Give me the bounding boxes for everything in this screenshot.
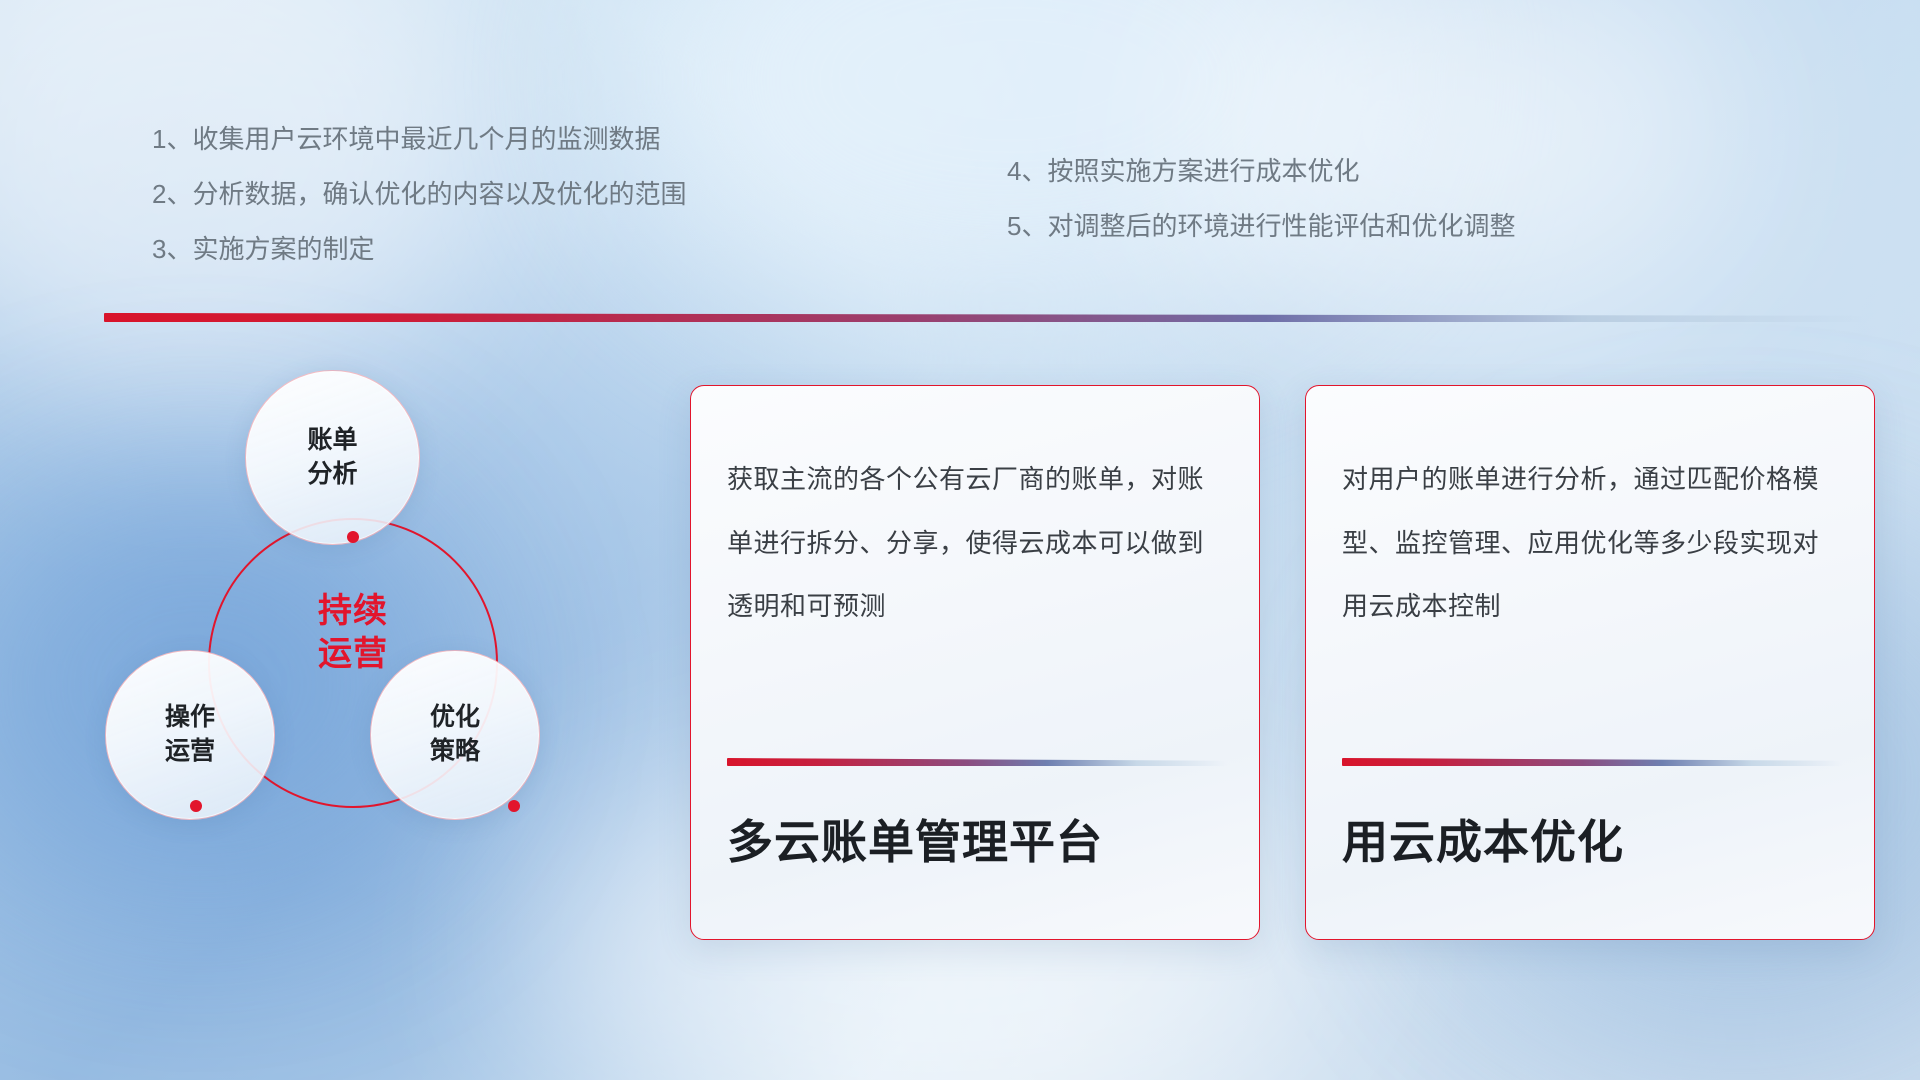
card-title: 用云成本优化: [1342, 806, 1624, 872]
center-label-line1: 持续: [278, 590, 428, 633]
bubble-label-line1: 优化: [430, 701, 480, 735]
diagram-center-label: 持续 运营: [278, 590, 428, 675]
card-accent-rule: [1342, 758, 1842, 766]
bubble-label-line2: 策略: [430, 735, 480, 769]
card-accent-rule: [727, 758, 1227, 766]
steps-left-column: 1、收集用户云环境中最近几个月的监测数据 2、分析数据，确认优化的内容以及优化的…: [152, 126, 686, 291]
bubble-bill-analysis[interactable]: 账单 分析: [245, 370, 420, 545]
card-body-text: 对用户的账单进行分析，通过匹配价格模型、监控管理、应用优化等多少段实现对用云成本…: [1342, 448, 1844, 639]
step-item-3: 3、实施方案的制定: [152, 236, 686, 262]
bubble-label-line1: 账单: [307, 424, 357, 458]
section-divider: [104, 313, 1864, 322]
bubble-label-line2: 分析: [307, 458, 357, 492]
steps-right-column: 4、按照实施方案进行成本优化 5、对调整后的环境进行性能评估和优化调整: [1007, 158, 1515, 268]
step-item-5: 5、对调整后的环境进行性能评估和优化调整: [1007, 213, 1515, 239]
card-body-text: 获取主流的各个公有云厂商的账单，对账单进行拆分、分享，使得云成本可以做到透明和可…: [727, 448, 1229, 639]
bubble-operations[interactable]: 操作 运营: [105, 650, 275, 820]
card-multicloud-billing-platform[interactable]: 获取主流的各个公有云厂商的账单，对账单进行拆分、分享，使得云成本可以做到透明和可…: [690, 385, 1260, 940]
node-dot-left: [190, 800, 202, 812]
step-item-4: 4、按照实施方案进行成本优化: [1007, 158, 1515, 184]
bubble-label-line1: 操作: [165, 701, 215, 735]
card-cloud-cost-optimization[interactable]: 对用户的账单进行分析，通过匹配价格模型、监控管理、应用优化等多少段实现对用云成本…: [1305, 385, 1875, 940]
card-title: 多云账单管理平台: [727, 806, 1103, 872]
node-dot-right: [508, 800, 520, 812]
center-label-line2: 运营: [278, 633, 428, 676]
bubble-label-line2: 运营: [165, 735, 215, 769]
step-item-1: 1、收集用户云环境中最近几个月的监测数据: [152, 126, 686, 152]
continuous-operation-diagram: 账单 分析 操作 运营 优化 策略 持续 运营: [100, 350, 640, 950]
slide-canvas: 1、收集用户云环境中最近几个月的监测数据 2、分析数据，确认优化的内容以及优化的…: [0, 0, 1920, 1080]
bubble-optimization-strategy[interactable]: 优化 策略: [370, 650, 540, 820]
node-dot-top: [347, 531, 359, 543]
step-item-2: 2、分析数据，确认优化的内容以及优化的范围: [152, 181, 686, 207]
